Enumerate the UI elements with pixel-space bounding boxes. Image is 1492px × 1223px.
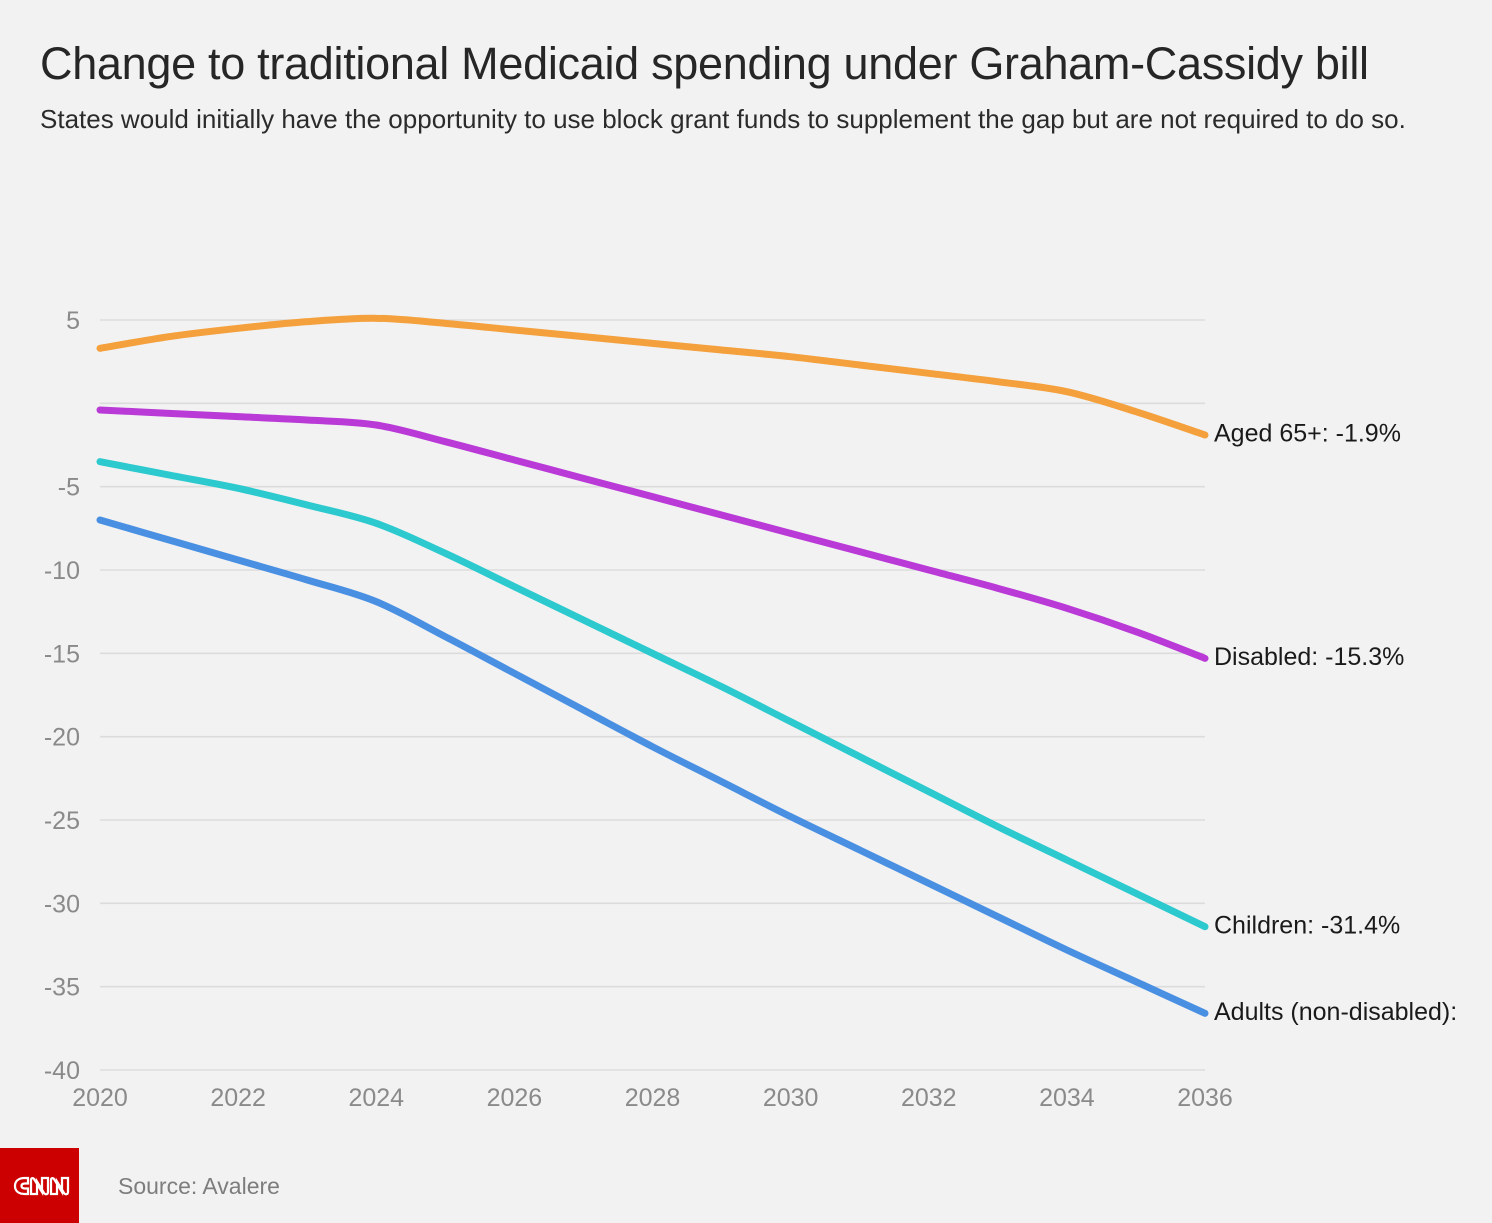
y-axis-tick-label: -35 xyxy=(44,974,80,1002)
data-series xyxy=(100,318,1205,1013)
x-axis-tick-label: 2032 xyxy=(901,1084,957,1112)
series-label-children: Children: -31.4% xyxy=(1214,911,1400,939)
y-axis-tick-label: -15 xyxy=(44,640,80,668)
x-axis-tick-label: 2020 xyxy=(72,1084,128,1112)
cnn-logo xyxy=(0,1148,79,1223)
series-line-disabled xyxy=(100,410,1205,658)
y-axis-tick-labels: 5-5-10-15-20-25-30-35-40 xyxy=(44,307,80,1085)
series-labels: Aged 65+: -1.9%Disabled: -15.3%Children:… xyxy=(1214,420,1457,1026)
y-axis-tick-label: -40 xyxy=(44,1057,80,1085)
series-label-disabled: Disabled: -15.3% xyxy=(1214,643,1404,671)
y-axis-tick-label: 5 xyxy=(66,307,80,335)
x-axis-tick-label: 2024 xyxy=(348,1084,404,1112)
line-chart-svg: 5-5-10-15-20-25-30-35-40 202020222024202… xyxy=(0,0,1492,1223)
chart-plot-area: 5-5-10-15-20-25-30-35-40 202020222024202… xyxy=(0,0,1492,1223)
x-axis-tick-labels: 202020222024202620282030203220342036 xyxy=(72,1084,1233,1112)
chart-footer: Source: Avalere xyxy=(0,1130,1492,1223)
series-label-adults-non-disabled: Adults (non-disabled): xyxy=(1214,998,1457,1026)
chart-header: Change to traditional Medicaid spending … xyxy=(40,38,1450,137)
x-axis-tick-label: 2036 xyxy=(1177,1084,1233,1112)
y-axis-tick-label: -20 xyxy=(44,724,80,752)
page-title: Change to traditional Medicaid spending … xyxy=(40,38,1450,90)
y-axis-tick-label: -10 xyxy=(44,557,80,585)
series-label-aged-65: Aged 65+: -1.9% xyxy=(1214,420,1401,448)
x-axis-tick-label: 2028 xyxy=(625,1084,681,1112)
source-attribution: Source: Avalere xyxy=(118,1173,280,1200)
y-axis-tick-label: -30 xyxy=(44,890,80,918)
y-axis-tick-label: -25 xyxy=(44,807,80,835)
x-axis-tick-label: 2026 xyxy=(487,1084,543,1112)
series-line-children xyxy=(100,462,1205,927)
y-axis-tick-label: -5 xyxy=(58,474,80,502)
chart-subtitle: States would initially have the opportun… xyxy=(40,102,1445,137)
x-axis-tick-label: 2022 xyxy=(210,1084,266,1112)
x-axis-tick-label: 2034 xyxy=(1039,1084,1095,1112)
x-axis-tick-label: 2030 xyxy=(763,1084,819,1112)
cnn-logo-icon xyxy=(9,1171,71,1201)
gridlines xyxy=(100,320,1205,1070)
series-line-adults-non-disabled xyxy=(100,520,1205,1013)
series-line-aged-65 xyxy=(100,318,1205,435)
